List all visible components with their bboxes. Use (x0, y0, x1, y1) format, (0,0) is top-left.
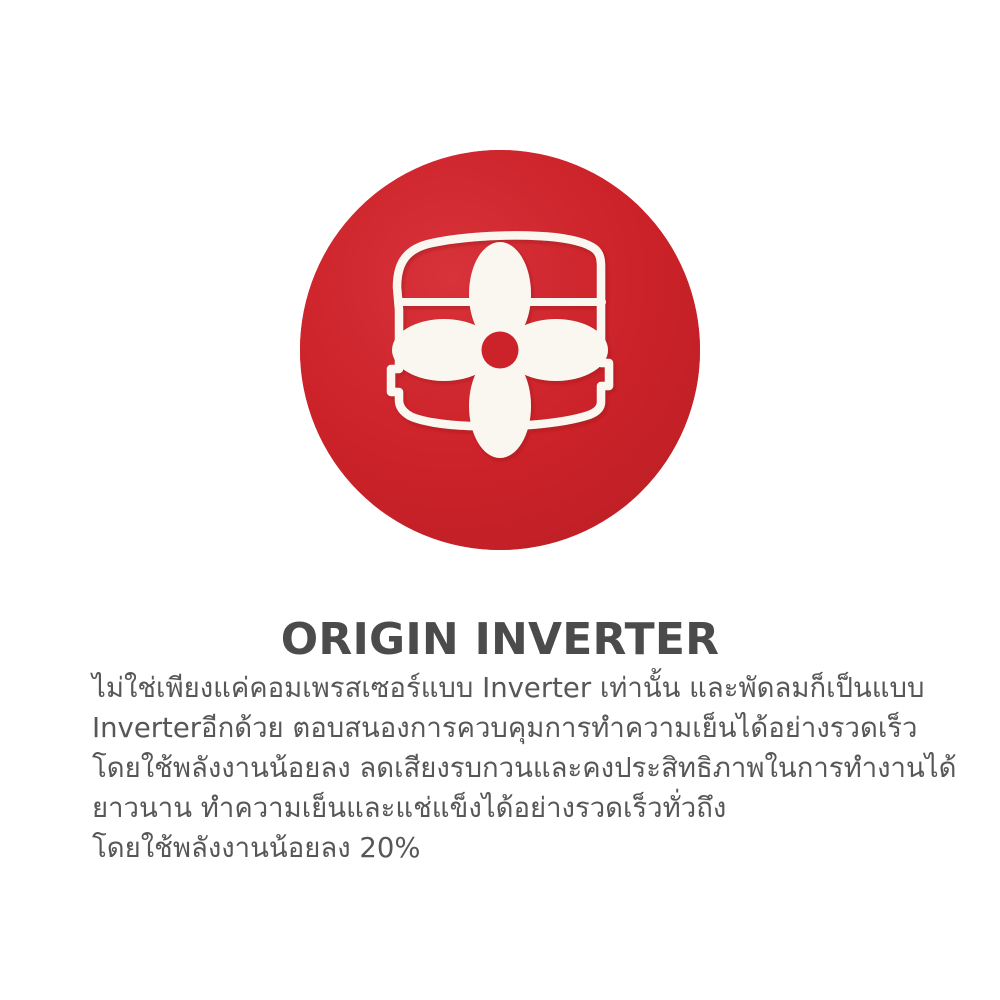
fan-hub (482, 332, 519, 369)
badge-svg (300, 150, 700, 550)
description-line: ไม่ใช่เพียงแค่คอมเพรสเซอร์แบบ Inverter เ… (92, 668, 972, 708)
description-line: โดยใช้พลังงานน้อยลง 20% (92, 828, 972, 868)
description-line: Inverterอีกด้วย ตอบสนองการควบคุมการทำควา… (92, 708, 972, 748)
origin-inverter-compressor-badge (300, 150, 700, 550)
feature-description: ไม่ใช่เพียงแค่คอมเพรสเซอร์แบบ Inverter เ… (92, 668, 972, 868)
description-line: ยาวนาน ทำความเย็นและแช่แข็งได้อย่างรวดเร… (92, 788, 972, 828)
page-title: ORIGIN INVERTER (0, 616, 1000, 664)
feature-card: ORIGIN INVERTER ไม่ใช่เพียงแค่คอมเพรสเซอ… (0, 0, 1000, 1000)
description-line: โดยใช้พลังงานน้อยลง ลดเสียงรบกวนและคงประ… (92, 748, 972, 788)
